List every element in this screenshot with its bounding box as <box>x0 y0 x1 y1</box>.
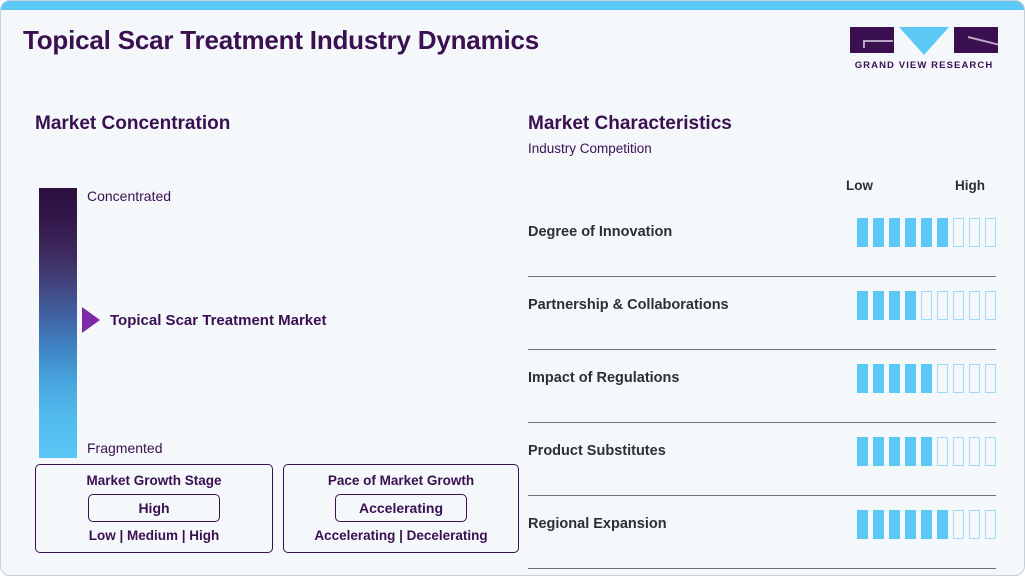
characteristic-row: Impact of Regulations <box>528 350 996 423</box>
characteristic-row: Degree of Innovation <box>528 204 996 277</box>
market-concentration-title: Market Concentration <box>35 113 505 135</box>
rating-tick-empty <box>985 291 996 320</box>
rating-tick-filled <box>905 510 916 539</box>
rating-tick-filled <box>873 437 884 466</box>
characteristic-row: Partnership & Collaborations <box>528 277 996 350</box>
rating-tick-filled <box>873 510 884 539</box>
characteristic-label: Impact of Regulations <box>528 370 679 386</box>
rating-tick-empty <box>937 291 948 320</box>
logo-marks <box>850 27 998 55</box>
characteristic-label: Partnership & Collaborations <box>528 297 729 313</box>
characteristics-table: Degree of InnovationPartnership & Collab… <box>528 204 996 569</box>
logo-wordmark: GRAND VIEW RESEARCH <box>850 60 998 71</box>
rating-tick-filled <box>873 218 884 247</box>
market-growth-stage-value: High <box>88 494 220 522</box>
rating-tick-filled <box>905 218 916 247</box>
pace-of-market-growth-scale: Accelerating | Decelerating <box>296 528 506 543</box>
rating-tick-filled <box>921 437 932 466</box>
stat-box-group: Market Growth Stage High Low | Medium | … <box>35 464 519 553</box>
rating-tick-filled <box>873 291 884 320</box>
brand-logo: GRAND VIEW RESEARCH <box>850 27 998 71</box>
rating-tick-filled <box>857 291 868 320</box>
pace-of-market-growth-title: Pace of Market Growth <box>296 473 506 488</box>
rating-tick-filled <box>921 218 932 247</box>
marker-arrow-icon <box>82 307 100 333</box>
rating-tick-filled <box>905 437 916 466</box>
rating-tick-empty <box>953 364 964 393</box>
market-growth-stage-title: Market Growth Stage <box>48 473 260 488</box>
rating-tick-empty <box>985 437 996 466</box>
rating-scale-high-label: High <box>955 178 985 193</box>
characteristic-row: Product Substitutes <box>528 423 996 496</box>
rating-tick-empty <box>969 218 980 247</box>
rating-tick-empty <box>969 510 980 539</box>
rating-tick-filled <box>889 510 900 539</box>
rating-tick-filled <box>857 364 868 393</box>
rating-tick-empty <box>985 364 996 393</box>
infographic-page: Topical Scar Treatment Industry Dynamics… <box>0 0 1025 576</box>
characteristic-rating-bars <box>857 291 996 320</box>
characteristic-rating-bars <box>857 510 996 539</box>
rating-tick-filled <box>857 218 868 247</box>
rating-tick-filled <box>937 510 948 539</box>
rating-scale-low-label: Low <box>846 178 873 193</box>
market-characteristics-subtitle: Industry Competition <box>528 141 996 156</box>
pace-of-market-growth-value: Accelerating <box>335 494 467 522</box>
rating-tick-filled <box>889 218 900 247</box>
rating-tick-filled <box>873 364 884 393</box>
rating-tick-empty <box>969 291 980 320</box>
characteristic-rating-bars <box>857 218 996 247</box>
characteristic-rating-bars <box>857 437 996 466</box>
logo-g-icon <box>850 27 894 53</box>
rating-tick-filled <box>889 364 900 393</box>
market-growth-stage-box: Market Growth Stage High Low | Medium | … <box>35 464 273 553</box>
rating-tick-filled <box>921 510 932 539</box>
rating-tick-empty <box>985 218 996 247</box>
rating-tick-empty <box>921 291 932 320</box>
top-accent-bar <box>1 1 1024 10</box>
rating-tick-empty <box>985 510 996 539</box>
rating-tick-empty <box>937 364 948 393</box>
rating-tick-empty <box>953 291 964 320</box>
rating-tick-filled <box>937 218 948 247</box>
rating-tick-filled <box>905 291 916 320</box>
rating-tick-empty <box>953 218 964 247</box>
characteristic-label: Degree of Innovation <box>528 224 672 240</box>
characteristic-label: Product Substitutes <box>528 443 666 459</box>
rating-scale-header: Low High <box>528 178 996 198</box>
rating-tick-empty <box>953 510 964 539</box>
rating-tick-empty <box>969 437 980 466</box>
characteristic-label: Regional Expansion <box>528 516 667 532</box>
page-title: Topical Scar Treatment Industry Dynamics <box>23 25 539 56</box>
rating-tick-empty <box>953 437 964 466</box>
rating-tick-filled <box>889 437 900 466</box>
concentration-bottom-label: Fragmented <box>87 440 162 456</box>
concentration-top-label: Concentrated <box>87 188 171 204</box>
logo-r-icon <box>954 27 998 53</box>
logo-v-icon <box>899 27 949 55</box>
pace-of-market-growth-box: Pace of Market Growth Accelerating Accel… <box>283 464 519 553</box>
market-concentration-panel: Market Concentration Concentrated Fragme… <box>35 113 505 458</box>
rating-tick-empty <box>969 364 980 393</box>
market-characteristics-title: Market Characteristics <box>528 113 996 135</box>
characteristic-rating-bars <box>857 364 996 393</box>
rating-tick-filled <box>905 364 916 393</box>
concentration-marker: Topical Scar Treatment Market <box>82 307 326 333</box>
characteristic-row: Regional Expansion <box>528 496 996 569</box>
market-characteristics-panel: Market Characteristics Industry Competit… <box>528 113 996 569</box>
rating-tick-filled <box>857 510 868 539</box>
concentration-gradient-bar <box>39 188 77 458</box>
market-growth-stage-scale: Low | Medium | High <box>48 528 260 543</box>
concentration-marker-label: Topical Scar Treatment Market <box>110 312 326 329</box>
rating-tick-filled <box>921 364 932 393</box>
rating-tick-filled <box>889 291 900 320</box>
rating-tick-empty <box>937 437 948 466</box>
rating-tick-filled <box>857 437 868 466</box>
concentration-scale: Concentrated Fragmented Topical Scar Tre… <box>35 188 505 458</box>
